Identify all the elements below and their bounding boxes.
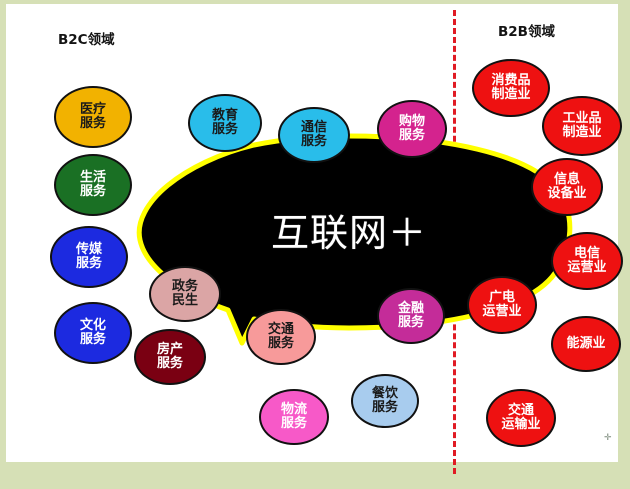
bubble-energy[interactable]: 能源业 <box>551 316 621 372</box>
bubble-logistics[interactable]: 物流服务 <box>259 389 329 445</box>
bubble-label-line2: 服务 <box>80 333 106 347</box>
bubble-label-line2: 运营业 <box>482 305 521 319</box>
bubble-label-line2: 服务 <box>399 129 425 143</box>
bubble-finance[interactable]: 金融服务 <box>377 288 445 344</box>
bubble-label-line1: 信息 <box>554 173 580 187</box>
b2b-section-heading: B2B领域 <box>498 20 555 40</box>
bubble-industrial-mfg[interactable]: 工业品制造业 <box>542 96 622 156</box>
bubble-info-equipment[interactable]: 信息设备业 <box>531 158 603 216</box>
bubble-realestate[interactable]: 房产服务 <box>134 329 206 385</box>
bubble-transport-ind[interactable]: 交通运输业 <box>486 389 556 447</box>
bubble-telecom-svc[interactable]: 通信服务 <box>278 107 350 163</box>
bubble-label-line1: 教育 <box>212 109 238 123</box>
bubble-shopping[interactable]: 购物服务 <box>377 100 447 158</box>
bubble-medical[interactable]: 医疗服务 <box>54 86 132 148</box>
bubble-label-line1: 生活 <box>80 171 106 185</box>
bubble-life[interactable]: 生活服务 <box>54 154 132 216</box>
bubble-label-line1: 房产 <box>157 343 183 357</box>
bubble-label-line1: 能源业 <box>566 337 605 351</box>
bubble-label-line1: 文化 <box>80 319 106 333</box>
bubble-label-line2: 服务 <box>212 123 238 137</box>
b2c-b2b-divider <box>453 10 456 474</box>
bubble-label-line2: 民生 <box>172 294 198 308</box>
bubble-label-line2: 服务 <box>301 135 327 149</box>
bubble-label-line2: 服务 <box>80 117 106 131</box>
slide-content-area: B2C领域 B2B领域 互联网＋ 医疗服务生活服务传媒服务文化服务教育服务通信服… <box>6 4 618 462</box>
bubble-label-line2: 制造业 <box>491 88 530 102</box>
b2c-section-heading: B2C领域 <box>58 28 115 48</box>
bubble-label-line1: 工业品 <box>562 112 601 126</box>
bubble-label-line1: 医疗 <box>80 103 106 117</box>
bubble-label-line1: 交通 <box>508 404 534 418</box>
bubble-label-line2: 服务 <box>268 337 294 351</box>
bubble-label-line1: 交通 <box>268 323 294 337</box>
bubble-label-line2: 服务 <box>281 417 307 431</box>
bubble-label-line1: 广电 <box>489 291 515 305</box>
bubble-label-line1: 消费品 <box>491 74 530 88</box>
bubble-catering[interactable]: 餐饮服务 <box>351 374 419 428</box>
bubble-label-line2: 服务 <box>372 401 398 415</box>
bubble-label-line1: 政务 <box>172 280 198 294</box>
bubble-label-line1: 餐饮 <box>372 387 398 401</box>
bubble-label-line1: 金融 <box>398 302 424 316</box>
bubble-label-line1: 购物 <box>399 115 425 129</box>
bubble-label-line2: 制造业 <box>562 126 601 140</box>
bubble-label-line2: 运营业 <box>567 261 606 275</box>
bubble-label-line2: 服务 <box>157 357 183 371</box>
bubble-label-line2: 设备业 <box>547 187 586 201</box>
bubble-consumer-mfg[interactable]: 消费品制造业 <box>472 59 550 117</box>
bubble-culture[interactable]: 文化服务 <box>54 302 132 364</box>
bubble-education[interactable]: 教育服务 <box>188 94 262 152</box>
bubble-label-line1: 物流 <box>281 403 307 417</box>
bubble-label-line1: 通信 <box>301 121 327 135</box>
bubble-label-line1: 电信 <box>574 247 600 261</box>
bubble-broadcast-op[interactable]: 广电运营业 <box>467 276 537 334</box>
bubble-label-line2: 服务 <box>80 185 106 199</box>
bubble-label-line2: 服务 <box>398 316 424 330</box>
bubble-label-line2: 运输业 <box>501 418 540 432</box>
bubble-telecom-op[interactable]: 电信运营业 <box>551 232 623 290</box>
bubble-label-line2: 服务 <box>76 257 102 271</box>
bubble-government[interactable]: 政务民生 <box>149 266 221 322</box>
slide-canvas: B2C领域 B2B领域 互联网＋ 医疗服务生活服务传媒服务文化服务教育服务通信服… <box>0 0 630 489</box>
corner-marker: ✛ <box>604 435 611 442</box>
bubble-transport-svc[interactable]: 交通服务 <box>246 309 316 365</box>
bubble-label-line1: 传媒 <box>76 243 102 257</box>
bubble-media[interactable]: 传媒服务 <box>50 226 128 288</box>
